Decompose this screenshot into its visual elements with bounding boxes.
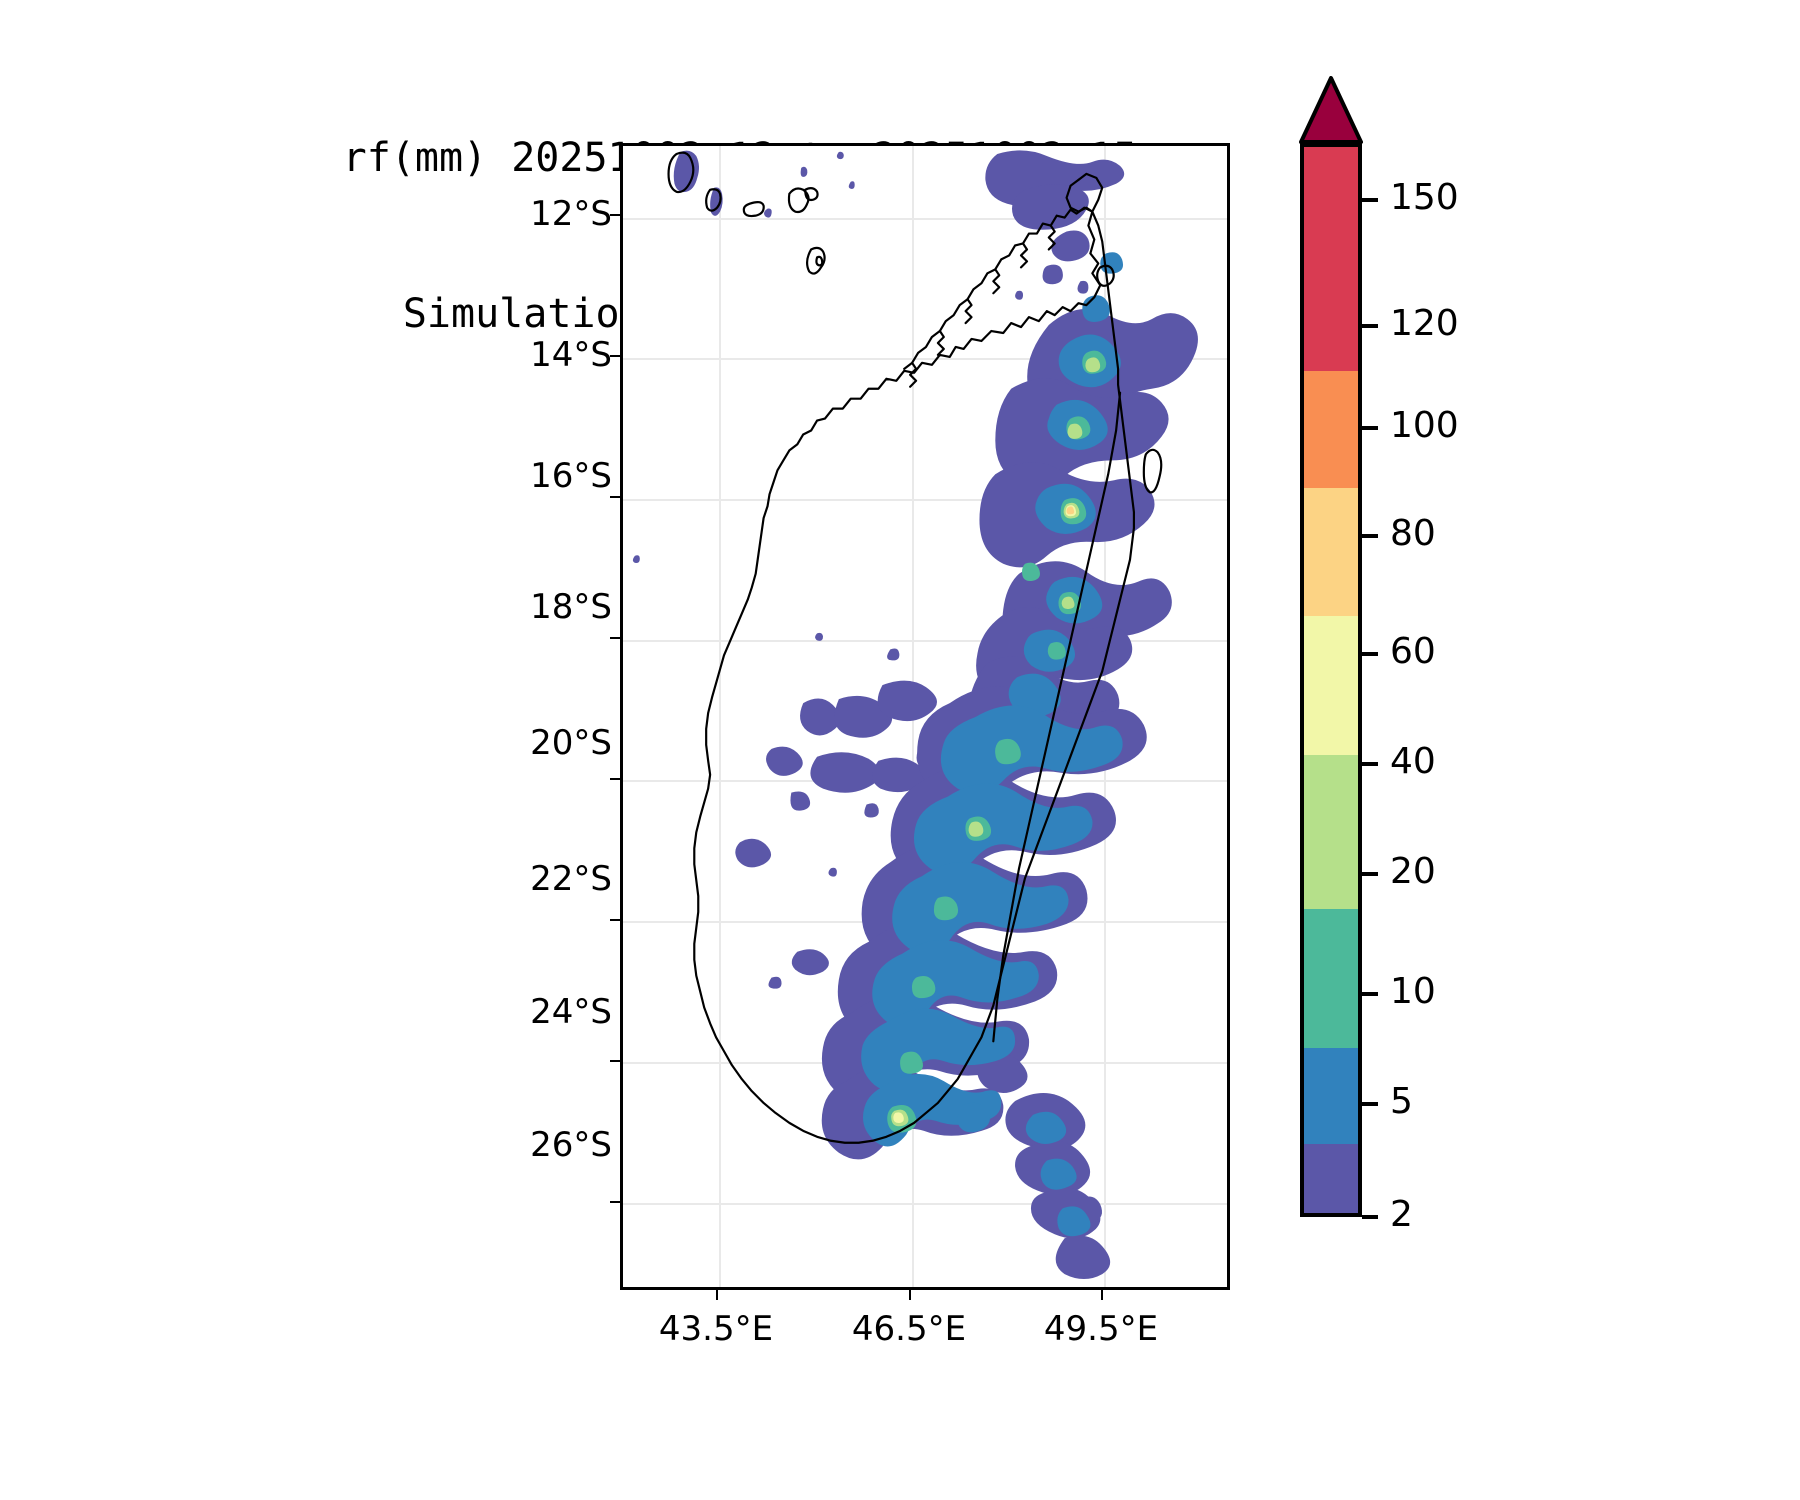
- y-tick-mark: [610, 1201, 620, 1203]
- y-tick-mark: [610, 496, 620, 498]
- colorbar[interactable]: [1300, 143, 1362, 1217]
- y-tick-label: 12°S: [530, 197, 612, 231]
- colorbar-band: [1304, 371, 1358, 488]
- colorbar-tick-label: 40: [1390, 744, 1436, 780]
- y-tick-mark: [610, 778, 620, 780]
- x-tick-mark: [716, 1290, 718, 1300]
- colorbar-tick-label: 150: [1390, 180, 1459, 216]
- x-tick-mark: [1101, 1290, 1103, 1300]
- colorbar-band: [1304, 616, 1358, 755]
- colorbar-band: [1304, 488, 1358, 616]
- y-tick-label: 20°S: [530, 726, 612, 760]
- colorbar-tick-mark: [1362, 198, 1378, 202]
- colorbar-tick-label: 120: [1390, 306, 1459, 342]
- colorbar-tick-label: 100: [1390, 408, 1459, 444]
- y-tick-label: 14°S: [530, 338, 612, 372]
- colorbar-tick-mark: [1362, 324, 1378, 328]
- y-tick-label: 26°S: [530, 1128, 612, 1162]
- y-tick-mark: [610, 1060, 620, 1062]
- x-tick-mark: [909, 1290, 911, 1300]
- x-tick-label: 46.5°E: [829, 1312, 989, 1346]
- x-tick-label: 49.5°E: [1021, 1312, 1181, 1346]
- y-tick-mark: [610, 919, 620, 921]
- colorbar-band: [1304, 755, 1358, 910]
- colorbar-tick-mark: [1362, 426, 1378, 430]
- colorbar-tick-label: 2: [1390, 1197, 1413, 1233]
- y-tick-mark: [610, 637, 620, 639]
- colorbar-tick-mark: [1362, 1215, 1378, 1219]
- map-axes[interactable]: [620, 143, 1230, 1290]
- colorbar-extend-arrow: [1299, 76, 1363, 144]
- y-tick-label: 22°S: [530, 862, 612, 896]
- y-tick-label: 18°S: [530, 590, 612, 624]
- colorbar-band: [1304, 1144, 1358, 1213]
- y-tick-label: 24°S: [530, 995, 612, 1029]
- colorbar-tick-mark: [1362, 534, 1378, 538]
- colorbar-tick-mark: [1362, 652, 1378, 656]
- colorbar-tick-label: 20: [1390, 854, 1436, 890]
- precipitation-map: [623, 146, 1227, 1287]
- y-tick-label: 16°S: [530, 459, 612, 493]
- colorbar-band: [1304, 909, 1358, 1048]
- colorbar-tick-label: 80: [1390, 516, 1436, 552]
- colorbar-tick-mark: [1362, 762, 1378, 766]
- colorbar-band: [1304, 147, 1358, 371]
- figure-canvas: rf(mm) 20251002_12 to 20251002_15 Simula…: [0, 0, 1800, 1500]
- colorbar-band: [1304, 1048, 1358, 1144]
- x-tick-label: 43.5°E: [636, 1312, 796, 1346]
- colorbar-bands: [1300, 143, 1362, 1217]
- colorbar-tick-mark: [1362, 992, 1378, 996]
- colorbar-tick-label: 60: [1390, 634, 1436, 670]
- colorbar-tick-mark: [1362, 1102, 1378, 1106]
- colorbar-tick-label: 5: [1390, 1084, 1413, 1120]
- colorbar-tick-label: 10: [1390, 974, 1436, 1010]
- colorbar-tick-mark: [1362, 872, 1378, 876]
